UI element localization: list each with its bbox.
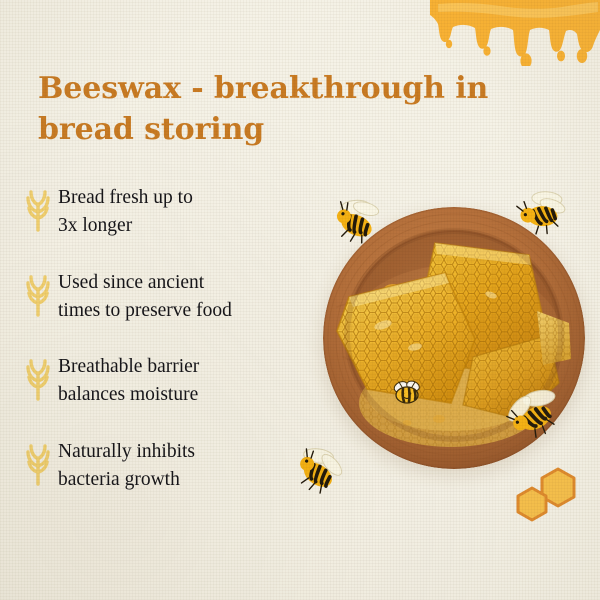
bullet-1-line-1: Bread fresh up to <box>58 187 193 208</box>
bee-bottom-right-icon <box>504 386 566 442</box>
bee-mini-cartoon-icon <box>390 378 426 406</box>
bullet-1-line-2: 3x longer <box>58 215 132 236</box>
list-item: Naturally inhibits bacteria growth <box>18 436 318 495</box>
benefits-list: Bread fresh up to 3x longer <box>18 182 318 494</box>
list-item-text: Bread fresh up to 3x longer <box>58 182 193 241</box>
bullet-3-line-1: Breathable barrier <box>58 356 199 377</box>
bee-bottom-left-icon <box>292 446 350 498</box>
bee-top-right-icon <box>514 188 572 240</box>
list-item: Breathable barrier balances moisture <box>18 351 318 410</box>
wheat-sprig-icon <box>18 355 58 401</box>
wheat-sprig-icon <box>18 186 58 232</box>
honeycomb-hexagons-icon <box>512 466 590 528</box>
bullet-2-line-2: times to preserve food <box>58 300 232 321</box>
headline-line-2: bread storing <box>38 109 508 150</box>
honey-drip-icon <box>430 0 600 66</box>
list-item-text: Naturally inhibits bacteria growth <box>58 436 195 495</box>
bullet-4-line-2: bacteria growth <box>58 469 180 490</box>
list-item: Bread fresh up to 3x longer <box>18 182 318 241</box>
page-title: Beeswax - breakthrough in bread storing <box>38 68 508 151</box>
list-item-text: Breathable barrier balances moisture <box>58 351 199 410</box>
bullet-4-line-1: Naturally inhibits <box>58 441 195 462</box>
bee-top-left-icon <box>330 196 388 248</box>
list-item: Used since ancient times to preserve foo… <box>18 267 318 326</box>
headline-line-1: Beeswax - breakthrough in <box>38 71 488 106</box>
promo-card: Beeswax - breakthrough in bread storing <box>0 0 600 600</box>
list-item-text: Used since ancient times to preserve foo… <box>58 267 232 326</box>
wheat-sprig-icon <box>18 271 58 317</box>
wheat-sprig-icon <box>18 440 58 486</box>
wooden-bowl-with-honeycomb-photo <box>318 200 593 475</box>
bullet-3-line-2: balances moisture <box>58 384 198 405</box>
bullet-2-line-1: Used since ancient <box>58 272 204 293</box>
